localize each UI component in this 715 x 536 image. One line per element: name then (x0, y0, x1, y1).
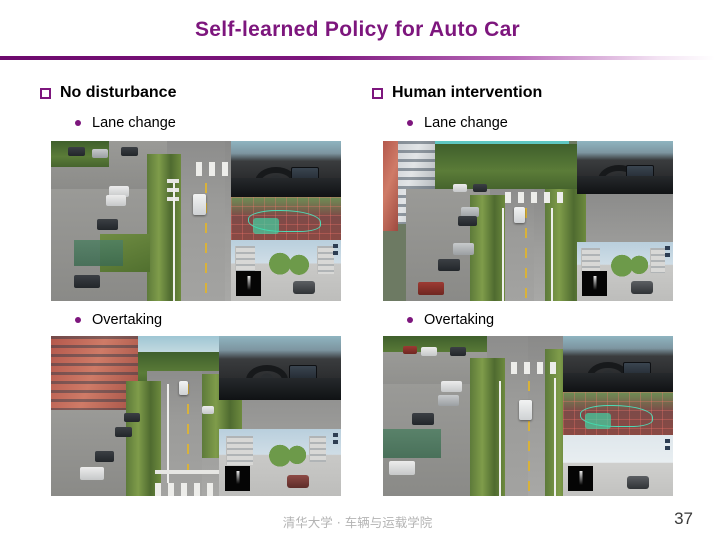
section-label-row: Lane change (75, 113, 370, 133)
trajectory-planner-view (563, 392, 673, 435)
trajectory-planner-view (231, 197, 341, 240)
section-label-row: Overtaking (407, 310, 702, 330)
column-heading-row: No disturbance (40, 82, 370, 104)
media-lane-change-human-intervention[interactable] (383, 141, 673, 301)
section-label: Lane change (424, 116, 508, 131)
driver-cabin-view (219, 336, 341, 400)
simulation-view (577, 242, 673, 301)
round-bullet-icon (407, 317, 413, 323)
round-bullet-icon (407, 120, 413, 126)
media-overtaking-no-disturbance[interactable] (51, 336, 341, 496)
round-bullet-icon (75, 317, 81, 323)
column-heading: Human intervention (392, 85, 542, 101)
hollow-square-bullet-icon (40, 88, 51, 99)
column-human-intervention: Human intervention Lane change (372, 82, 702, 496)
simulation-view (563, 435, 673, 496)
column-no-disturbance: No disturbance Lane change (40, 82, 370, 496)
section-label: Overtaking (424, 313, 494, 328)
simulation-view (231, 240, 341, 301)
driver-cabin-view (577, 141, 673, 194)
driver-cabin-view (231, 141, 341, 197)
page-title: Self-learned Policy for Auto Car (0, 18, 715, 42)
driver-cabin-view (563, 336, 673, 392)
section-label: Lane change (92, 116, 176, 131)
round-bullet-icon (75, 120, 81, 126)
page-number: 37 (674, 509, 693, 529)
section-label: Overtaking (92, 313, 162, 328)
column-heading-row: Human intervention (372, 82, 702, 104)
media-overtaking-human-intervention[interactable] (383, 336, 673, 496)
media-lane-change-no-disturbance[interactable] (51, 141, 341, 301)
hollow-square-bullet-icon (372, 88, 383, 99)
title-divider (0, 56, 715, 60)
footer-affiliation: 清华大学 · 车辆与运载学院 (0, 512, 715, 531)
section-label-row: Overtaking (75, 310, 370, 330)
section-label-row: Lane change (407, 113, 702, 133)
simulation-view (219, 429, 341, 496)
column-heading: No disturbance (60, 85, 176, 101)
slide: Self-learned Policy for Auto Car No dist… (0, 0, 715, 536)
